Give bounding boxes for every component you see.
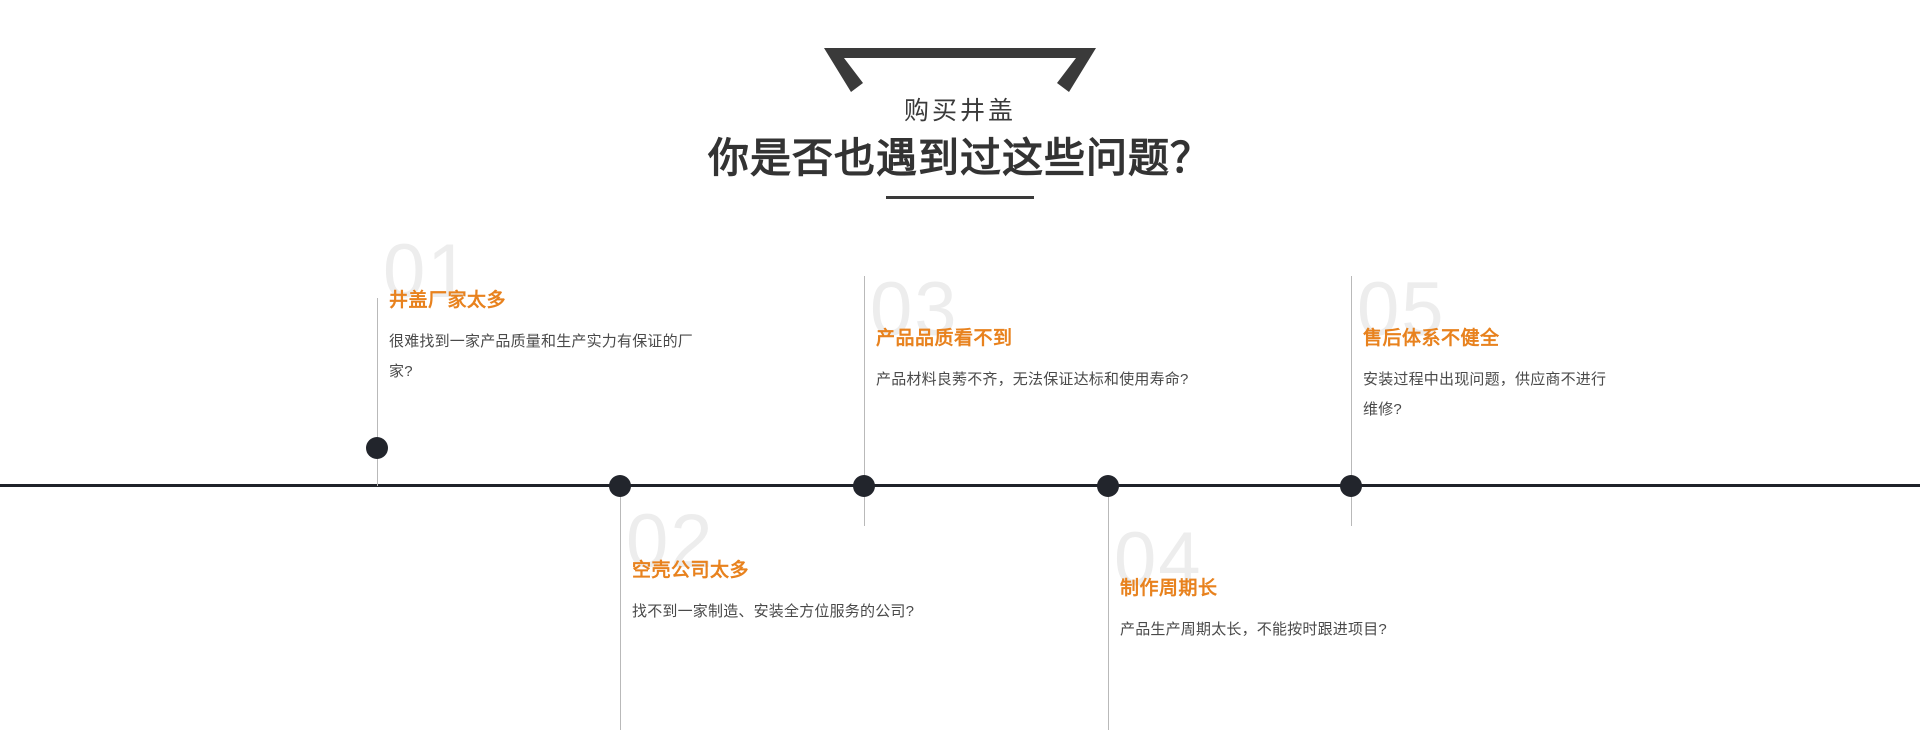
- card-title-03: 产品品质看不到: [876, 328, 1196, 351]
- card-desc-04: 产品生产周期太长，不能按时跟进项目?: [1120, 615, 1440, 645]
- bracket-banner-icon: [824, 48, 1096, 92]
- headline-underline: [886, 196, 1034, 199]
- card-desc-03: 产品材料良莠不齐，无法保证达标和使用寿命?: [876, 365, 1196, 395]
- card-desc-05: 安装过程中出现问题，供应商不进行维修?: [1363, 365, 1613, 425]
- page-root: 购买井盖 你是否也遇到过这些问题？ 01 井盖厂家太多 很难找到一家产品质量和生…: [0, 0, 1920, 739]
- page-title: 你是否也遇到过这些问题？: [0, 133, 1920, 184]
- node-dot-01[interactable]: [366, 437, 388, 459]
- page-kicker: 购买井盖: [0, 96, 1920, 127]
- card-title-01: 井盖厂家太多: [389, 290, 709, 313]
- node-dot-05[interactable]: [1340, 475, 1362, 497]
- node-dot-02[interactable]: [609, 475, 631, 497]
- card-title-02: 空壳公司太多: [632, 560, 952, 583]
- node-dot-04[interactable]: [1097, 475, 1119, 497]
- timeline-axis: [0, 484, 1920, 487]
- card-title-04: 制作周期长: [1120, 578, 1440, 601]
- node-stem-04: [1108, 484, 1109, 730]
- card-desc-02: 找不到一家制造、安装全方位服务的公司?: [632, 597, 952, 627]
- node-stem-02: [620, 484, 621, 730]
- node-dot-03[interactable]: [853, 475, 875, 497]
- card-title-05: 售后体系不健全: [1363, 328, 1613, 351]
- card-desc-01: 很难找到一家产品质量和生产实力有保证的厂家?: [389, 327, 709, 387]
